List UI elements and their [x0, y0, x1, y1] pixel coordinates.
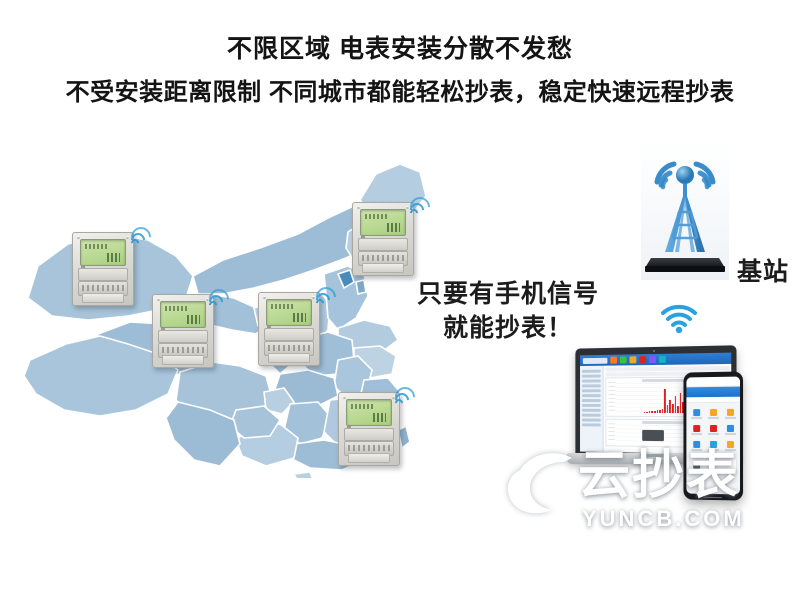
app-tile[interactable] — [706, 423, 720, 436]
wifi-link-icon — [658, 300, 700, 334]
headline-secondary: 不受安装距离限制 不同城市都能轻松抄表，稳定快速远程抄表 — [0, 79, 800, 108]
wifi-signal-icon — [315, 286, 339, 308]
nav-icon-5[interactable] — [649, 356, 656, 363]
dashboard-logo — [583, 357, 608, 363]
dashboard-sidebar[interactable] — [580, 366, 604, 452]
laptop-hinge — [640, 454, 666, 457]
caption-line-2: 就能抄表！ — [408, 312, 608, 346]
headline-primary: 不限区域 电表安装分散不发愁 — [0, 34, 800, 64]
smart-meter-southeast — [338, 392, 400, 466]
smart-meter-central — [258, 292, 320, 366]
home-indicator — [704, 496, 722, 498]
app-tile[interactable] — [689, 439, 703, 452]
wifi-signal-icon — [409, 196, 433, 218]
app-tile[interactable] — [723, 407, 737, 420]
smartphone-device — [683, 372, 743, 500]
nav-icon-4[interactable] — [639, 356, 646, 363]
app-tile[interactable] — [706, 439, 720, 452]
wifi-signal-icon — [130, 226, 154, 248]
caption-line-1: 只要有手机信号 — [408, 278, 608, 312]
app-tile[interactable] — [689, 423, 703, 436]
wifi-signal-icon — [208, 288, 232, 310]
base-station-label: 基站 — [737, 252, 789, 288]
smart-meter-xinjiang — [72, 232, 134, 306]
app-header — [686, 387, 740, 398]
app-icon-grid — [686, 403, 740, 456]
watermark-domain: YUNCB.COM — [582, 506, 745, 532]
poster-canvas: 不限区域 电表安装分散不发愁 不受安装距离限制 不同城市都能轻松抄表，稳定快速远… — [0, 0, 800, 600]
nav-icon-3[interactable] — [630, 356, 637, 363]
headline-block: 不限区域 电表安装分散不发愁 不受安装距离限制 不同城市都能轻松抄表，稳定快速远… — [0, 34, 800, 108]
mail-icon — [693, 463, 700, 468]
nav-icon-6[interactable] — [659, 356, 666, 363]
smart-meter-qinghai — [152, 294, 214, 368]
app-message-row[interactable] — [689, 458, 737, 474]
smart-meter-northeast — [352, 202, 414, 276]
app-tile[interactable] — [706, 407, 720, 420]
nav-icon-1[interactable] — [610, 357, 617, 364]
webcam-icon — [653, 350, 655, 352]
app-tile[interactable] — [723, 423, 737, 436]
phone-app-screen[interactable] — [686, 377, 740, 495]
center-caption: 只要有手机信号 就能抄表！ — [408, 278, 608, 346]
nav-icon-2[interactable] — [620, 356, 627, 363]
app-tile[interactable] — [689, 407, 703, 420]
app-tile[interactable] — [723, 439, 737, 452]
base-station-tower — [641, 140, 729, 280]
wifi-signal-icon — [394, 386, 418, 408]
